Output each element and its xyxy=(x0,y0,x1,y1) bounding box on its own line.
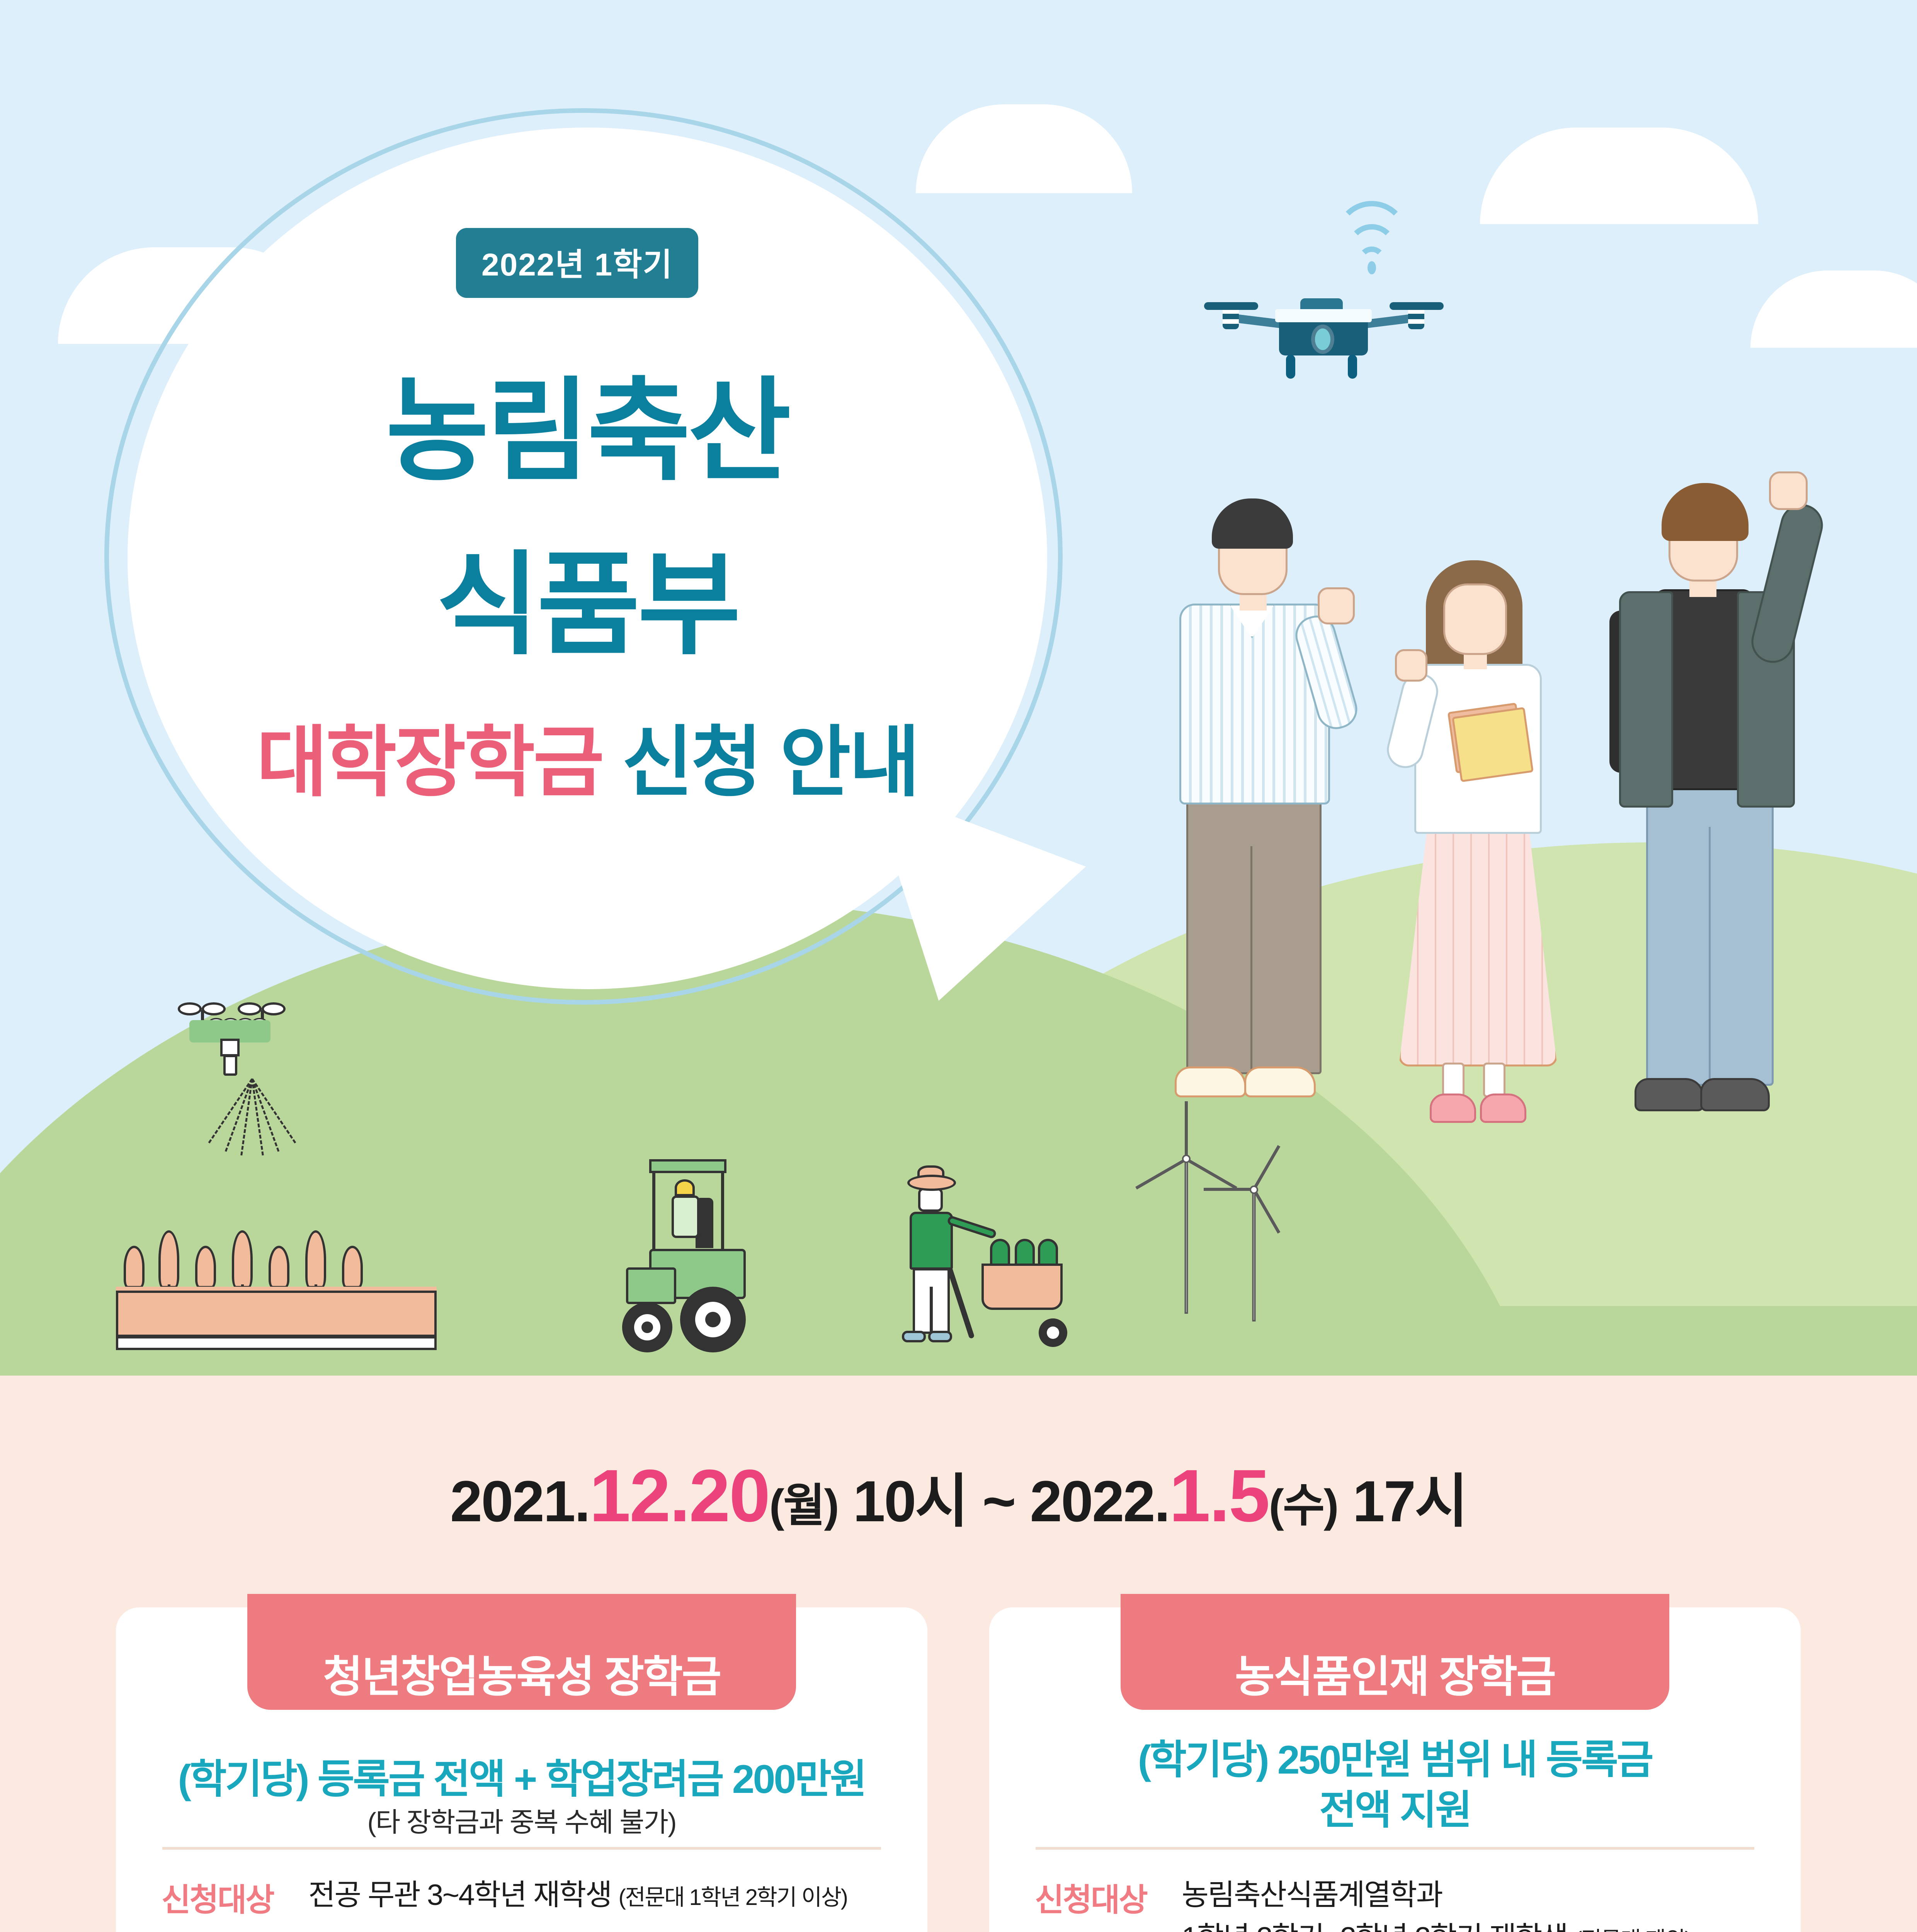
scholarship-cards: 청년창업농육성 장학금 (학기당) 등록금 전액 + 학업장려금 200만원 (… xyxy=(116,1584,1801,1932)
period-end-date: 1.5 xyxy=(1169,1454,1269,1537)
title-highlight: 대학장학금 xyxy=(257,719,602,806)
card-amount: (학기당) 등록금 전액 + 학업장려금 200만원 xyxy=(116,1754,927,1804)
period-start-day: (월) xyxy=(769,1480,838,1531)
card-divider xyxy=(1036,1847,1754,1850)
period-prefix: 2021. xyxy=(450,1469,589,1534)
card-note: (타 장학금과 중복 수혜 불가) xyxy=(116,1801,927,1840)
card-ribbon: 청년창업농육성 장학금 xyxy=(247,1594,796,1710)
student-male-left xyxy=(1144,498,1360,1291)
cloud-icon xyxy=(1480,128,1758,224)
period-start-time: 10시 ~ xyxy=(838,1469,1030,1534)
row-text-small: (전문대 1학년 2학기 이상) xyxy=(619,1885,847,1910)
card-detail-rows: 신청대상 농림축산식품계열학과 1학년 2학기~2학년 2학기 재학생 (전문대… xyxy=(1035,1874,1762,1932)
content-section: 2021.12.20(월) 10시 ~ 2022.1.5(수) 17시 청년창업… xyxy=(0,1376,1917,1932)
semester-badge: 2022년 1학기 xyxy=(456,228,698,298)
period-end-time: 17시 xyxy=(1338,1469,1467,1534)
period-end-day: (수) xyxy=(1269,1480,1338,1531)
cloud-icon xyxy=(916,104,1132,193)
row-label: 신청대상 xyxy=(1035,1874,1182,1932)
row-text: 1학년 2학기~2학년 2학기 재학생 xyxy=(1182,1921,1567,1932)
scholarship-card-youth-startup: 청년창업농육성 장학금 (학기당) 등록금 전액 + 학업장려금 200만원 (… xyxy=(116,1607,927,1932)
student-male-right xyxy=(1588,456,1828,1287)
card-amount: (학기당) 250만원 범위 내 등록금전액 지원 xyxy=(989,1735,1801,1835)
card-title: 농식품인재 장학금 xyxy=(1121,1642,1669,1704)
detail-row: 신청대상 농림축산식품계열학과 1학년 2학기~2학년 2학기 재학생 (전문대… xyxy=(1035,1874,1762,1932)
wheat-field-icon xyxy=(116,1163,437,1356)
row-body: 전공 무관 3~4학년 재학생 (전문대 1학년 2학기 이상) xyxy=(308,1874,889,1920)
row-label: 신청대상 xyxy=(162,1874,308,1920)
farmer-with-wheelbarrow-icon xyxy=(885,1175,1078,1356)
tractor-icon xyxy=(603,1159,765,1352)
wifi-signal-icon xyxy=(1333,213,1410,274)
scholarship-card-agrifood-talent: 농식품인재 장학금 (학기당) 250만원 범위 내 등록금전액 지원 신청대상… xyxy=(989,1607,1801,1932)
drone-icon xyxy=(1237,270,1414,371)
row-text-wrap: 1학년 2학기~2학년 2학기 재학생 (전문대 제외) xyxy=(1182,1917,1762,1932)
card-ribbon: 농식품인재 장학금 xyxy=(1121,1594,1669,1710)
hero-illustration-scene: 2022년 1학기 농림축산 식품부 대학장학금 신청 안내 xyxy=(0,0,1917,1376)
card-detail-rows: 신청대상 전공 무관 3~4학년 재학생 (전문대 1학년 2학기 이상) 신청… xyxy=(162,1874,889,1932)
page-title: 대학장학금 신청 안내 xyxy=(124,699,1051,811)
period-start-date: 12.20 xyxy=(589,1454,769,1537)
cloud-icon xyxy=(1750,270,1917,348)
row-text: 전공 무관 3~4학년 재학생 xyxy=(308,1879,611,1912)
student-female-center xyxy=(1376,560,1577,1294)
row-text: 농림축산식품계열학과 xyxy=(1182,1874,1762,1917)
period-mid: 2022. xyxy=(1030,1469,1169,1534)
application-period: 2021.12.20(월) 10시 ~ 2022.1.5(수) 17시 xyxy=(0,1453,1917,1538)
row-text-small: (전문대 제외) xyxy=(1575,1927,1691,1932)
row-body: 농림축산식품계열학과 1학년 2학기~2학년 2학기 재학생 (전문대 제외) xyxy=(1182,1874,1762,1932)
card-divider xyxy=(162,1847,881,1850)
ministry-name-line1: 농림축산 xyxy=(124,340,1051,502)
card-title: 청년창업농육성 장학금 xyxy=(247,1642,796,1704)
title-rest: 신청 안내 xyxy=(602,719,918,806)
ministry-name-line2: 식품부 xyxy=(124,514,1051,676)
detail-row: 신청대상 전공 무관 3~4학년 재학생 (전문대 1학년 2학기 이상) xyxy=(162,1874,889,1920)
students-illustration xyxy=(1144,444,1839,1325)
agriculture-drone-icon xyxy=(155,989,309,1066)
